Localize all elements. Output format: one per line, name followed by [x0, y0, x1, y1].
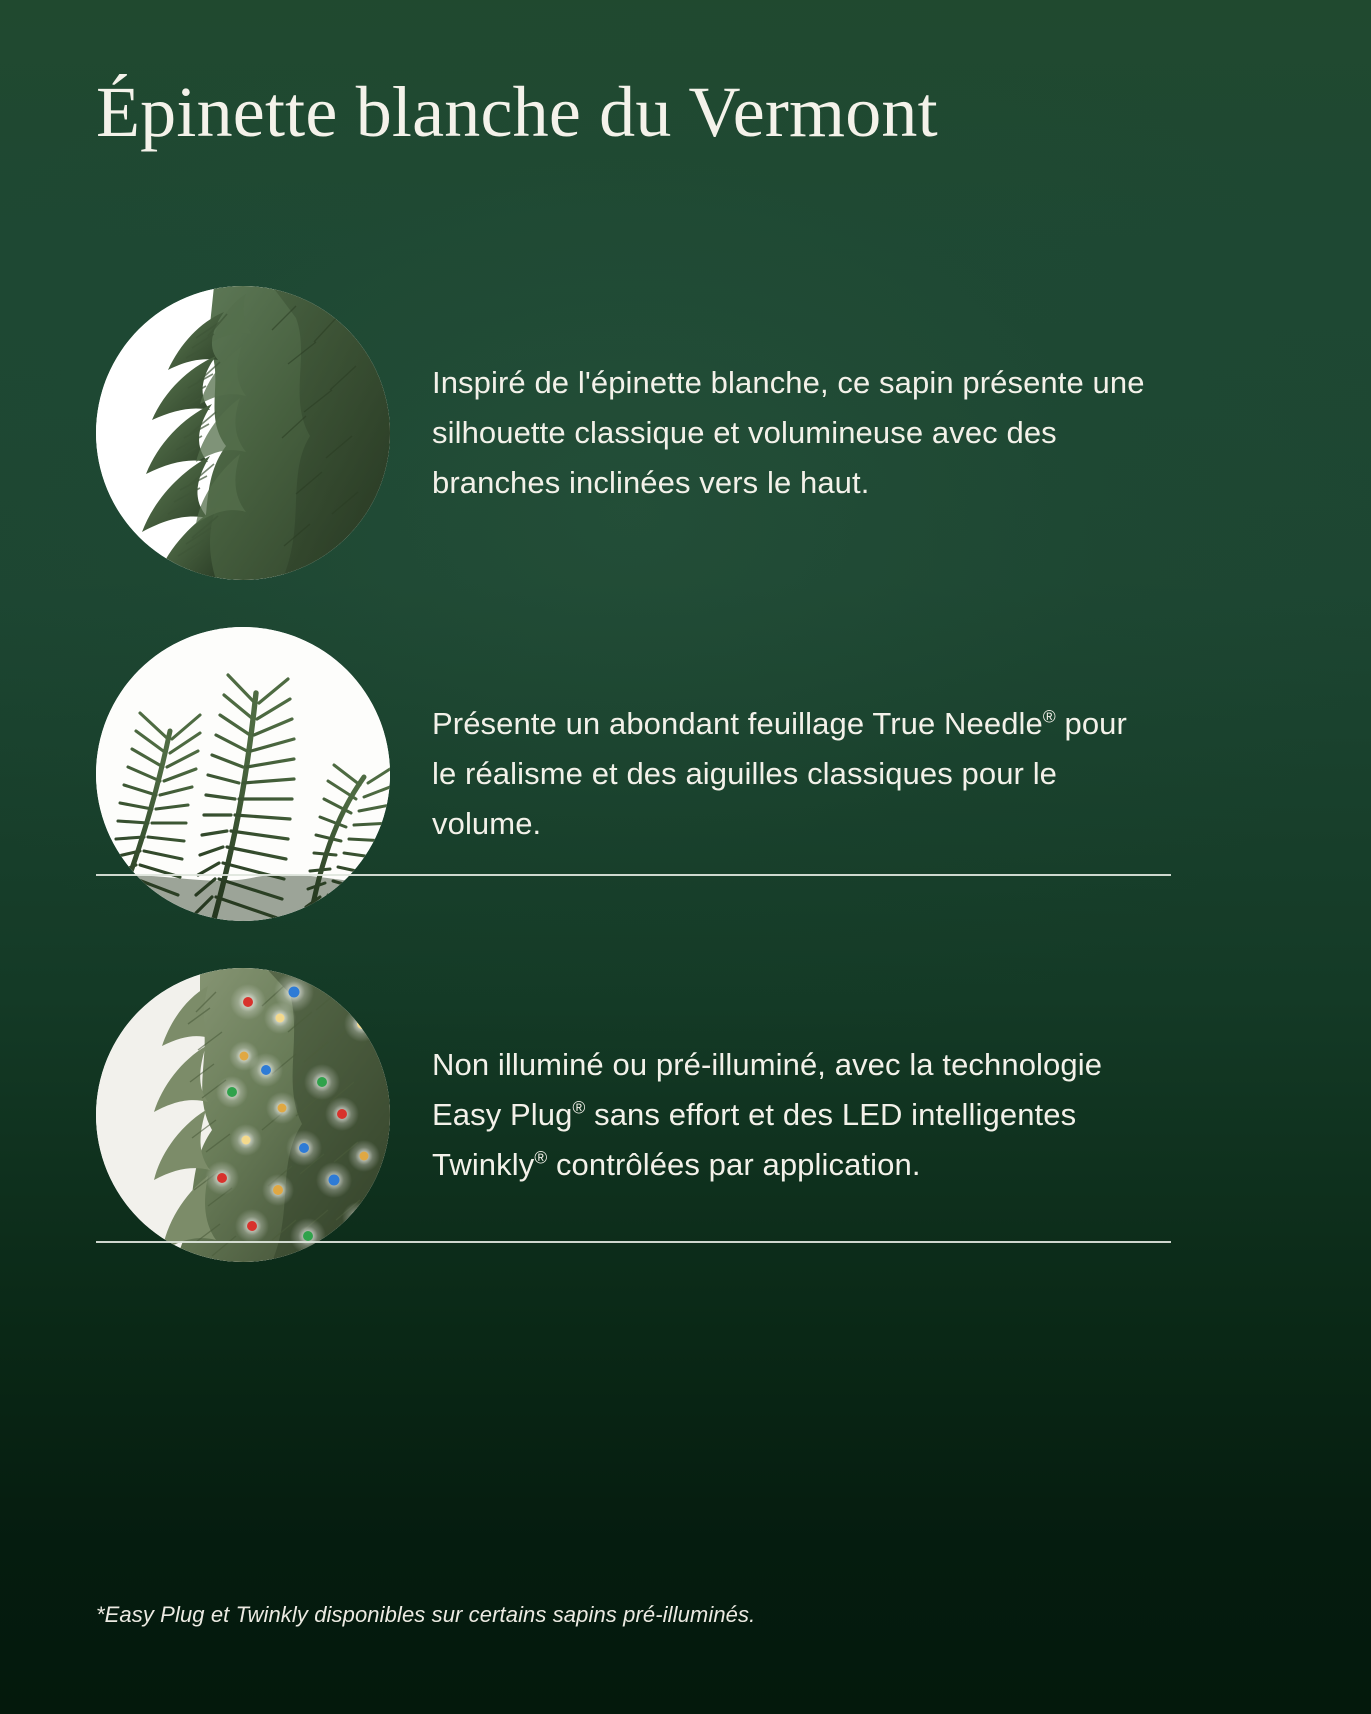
page-title: Épinette blanche du Vermont: [96, 72, 1276, 153]
feature-text-segment: Présente un abondant feuillage True Need…: [432, 706, 1043, 741]
feature-text-silhouette: Inspiré de l'épinette blanche, ce sapin …: [432, 358, 1152, 509]
pre-lit-tree-multicolor-lights-photo: [96, 968, 390, 1262]
feature-row-true-needle: Présente un abondant feuillage True Need…: [0, 598, 1371, 950]
feature-text-lighting: Non illuminé ou pré-illuminé, avec la te…: [432, 1040, 1152, 1191]
feature-text-true-needle: Présente un abondant feuillage True Need…: [432, 699, 1152, 850]
spruce-tree-silhouette-photo: [96, 286, 390, 580]
registered-trademark-symbol: ®: [572, 1098, 585, 1118]
feature-text-segment: Inspiré de l'épinette blanche, ce sapin …: [432, 365, 1145, 500]
true-needle-foliage-closeup-photo: [96, 627, 390, 921]
section-divider-2: [96, 1241, 1171, 1243]
footnote-disclaimer: *Easy Plug et Twinkly disponibles sur ce…: [96, 1600, 1196, 1631]
feature-text-segment: contrôlées par application.: [547, 1147, 920, 1182]
registered-trademark-symbol: ®: [1043, 706, 1056, 726]
marketing-feature-panel: Épinette blanche du Vermont: [0, 0, 1371, 1714]
feature-row-lighting: Non illuminé ou pré-illuminé, avec la te…: [0, 950, 1371, 1280]
registered-trademark-symbol: ®: [534, 1148, 547, 1168]
section-divider-1: [96, 874, 1171, 876]
feature-row-silhouette: Inspiré de l'épinette blanche, ce sapin …: [0, 268, 1371, 598]
feature-list: Inspiré de l'épinette blanche, ce sapin …: [0, 268, 1371, 1280]
